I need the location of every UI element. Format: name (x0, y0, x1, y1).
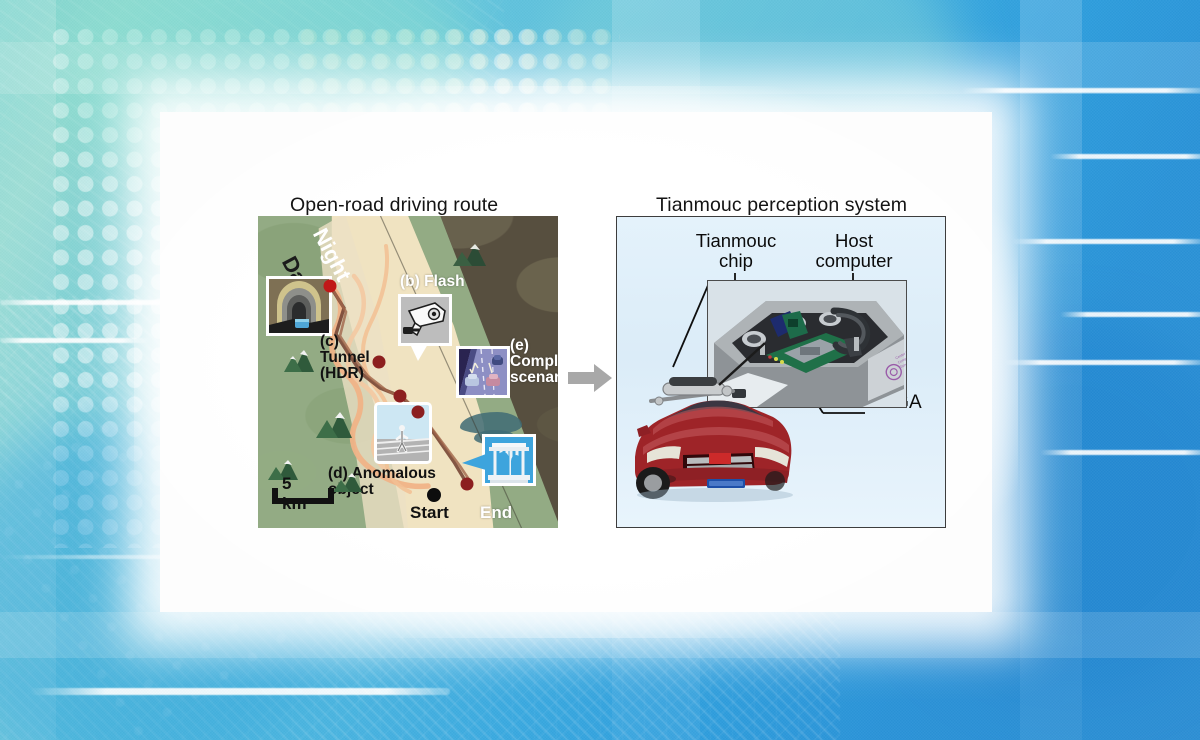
map-waypoint-2[interactable] (373, 356, 386, 369)
map-scale-label: 5 km (282, 474, 307, 514)
mountain-icon-2 (314, 406, 362, 440)
mountain-icon-5 (450, 238, 496, 268)
background-streak-9 (30, 688, 450, 695)
scale-bar-line (272, 498, 334, 504)
scale-bar-cap-left (272, 488, 278, 504)
slide-canvas: Open-road driving route Tianmouc percept… (0, 0, 1200, 740)
thumbnail-flash[interactable] (398, 294, 452, 346)
tunnel-icon (269, 279, 329, 333)
thumbnail-tunnel[interactable] (266, 276, 332, 336)
background-streak-2 (1050, 154, 1200, 159)
background-streak-8 (0, 338, 150, 343)
map-waypoint-3[interactable] (412, 406, 425, 419)
background-streak-4 (1060, 312, 1200, 317)
map-waypoint-5[interactable] (461, 478, 474, 491)
figure-container: Open-road driving route Tianmouc percept… (160, 112, 992, 612)
map-end-label: End (480, 504, 512, 521)
thumbnail-flash-pointer (410, 344, 432, 362)
cctv-camera-icon (401, 297, 449, 343)
background-streak-1 (962, 88, 1200, 93)
callout-label-tianmouc-chip: Tianmouc chip (681, 231, 791, 271)
mountain-icon-4 (332, 466, 372, 494)
annotation-label-tunnel: (c) Tunnel (HDR) (320, 334, 370, 381)
left-panel-title: Open-road driving route (290, 194, 498, 217)
callout-label-host-computer: Host computer (795, 231, 913, 271)
multi-lane-traffic-icon (459, 349, 507, 395)
driving-route-map: Day Night (c) (258, 216, 558, 528)
mountain-icon-1 (282, 344, 326, 374)
thumbnail-end-gate[interactable] (482, 434, 536, 486)
thumbnail-end-pointer (462, 454, 486, 470)
background-band-horizontal-1 (0, 42, 1200, 94)
perception-system-panel: Tianmouc chip Host computer FPGA (616, 216, 946, 528)
background-streak-6 (1040, 450, 1200, 455)
thumbnail-complex-scenario[interactable] (456, 346, 510, 398)
annotation-label-complex-scenario: (e) Complex scenario (510, 338, 558, 385)
map-start-marker[interactable] (427, 488, 441, 502)
map-start-label: Start (410, 504, 449, 521)
right-arrow-icon (568, 364, 612, 392)
car-image (623, 361, 813, 511)
map-waypoint-4[interactable] (394, 390, 407, 403)
right-panel-title: Tianmouc perception system (656, 194, 907, 217)
background-streak-3 (1012, 239, 1200, 244)
annotation-label-flash: (b) Flash (400, 274, 465, 290)
arch-monument-icon (485, 437, 533, 483)
scale-bar-cap-right (328, 488, 334, 504)
background-streak-5 (1004, 360, 1200, 365)
map-waypoint-1[interactable] (324, 280, 337, 293)
instrumented-car-photo[interactable] (623, 361, 813, 511)
background-band-horizontal-2 (0, 612, 1200, 658)
